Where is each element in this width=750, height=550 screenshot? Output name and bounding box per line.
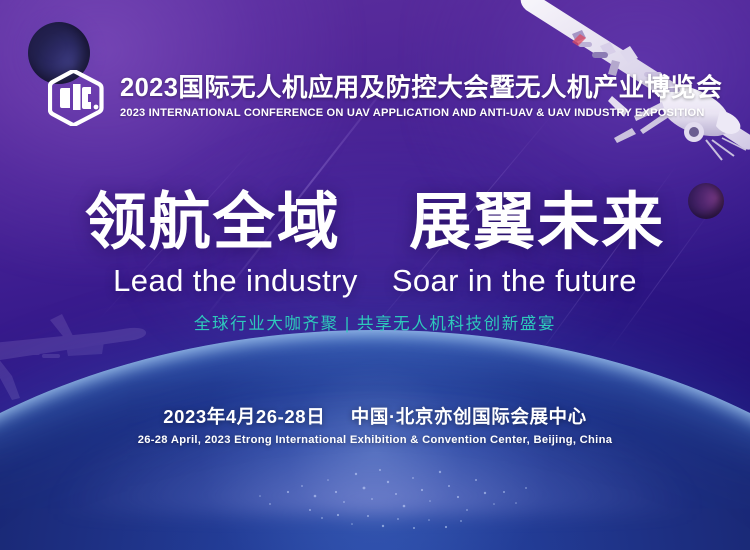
header-title-en: 2023 INTERNATIONAL CONFERENCE ON UAV APP… bbox=[120, 105, 722, 122]
headline-cn-part1: 领航全域 bbox=[85, 188, 341, 257]
headline-cn-part2: 展翼未来 bbox=[409, 188, 665, 257]
event-date-en: 26-28 April, 2023 bbox=[138, 434, 231, 446]
headline-en: Lead the industry Soar in the future bbox=[0, 264, 750, 298]
event-poster: 2023国际无人机应用及防控大会暨无人机产业博览会 2023 INTERNATI… bbox=[0, 0, 750, 550]
guc-hexagon-logo-icon bbox=[48, 70, 106, 126]
headline-en-part2: Soar in the future bbox=[392, 263, 637, 298]
header-title-cn: 2023国际无人机应用及防控大会暨无人机产业博览会 bbox=[120, 74, 722, 103]
event-venue-cn: 中国·北京亦创国际会展中心 bbox=[351, 406, 587, 427]
tagline: 全球行业大咖齐聚 | 共享无人机科技创新盛宴 bbox=[0, 315, 750, 335]
headline-cn: 领航全域 展翼未来 bbox=[0, 192, 750, 254]
poster-header: 2023国际无人机应用及防控大会暨无人机产业博览会 2023 INTERNATI… bbox=[48, 70, 722, 126]
event-date-venue-cn: 2023年4月26-28日 中国·北京亦创国际会展中心 bbox=[0, 405, 750, 428]
event-date-venue-en: 26-28 April, 2023 Etrong International E… bbox=[0, 433, 750, 448]
headline-en-part1: Lead the industry bbox=[113, 263, 358, 298]
event-venue-en: Etrong International Exhibition & Conven… bbox=[234, 434, 612, 446]
event-date-cn: 2023年4月26-28日 bbox=[163, 406, 325, 427]
